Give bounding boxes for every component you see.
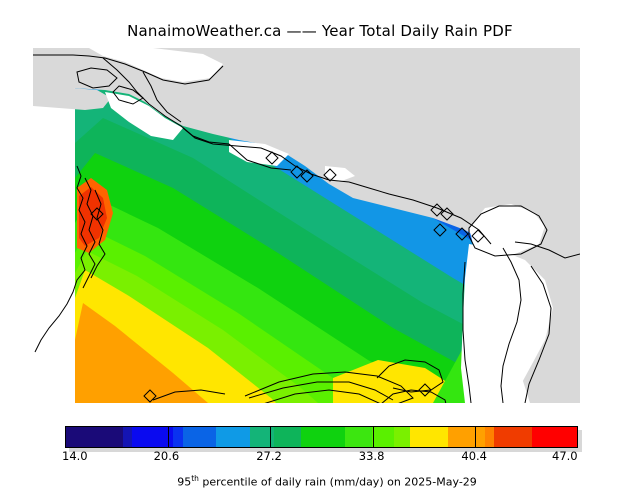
caption-suffix: percentile of daily rain (mm/day) on 202… <box>199 476 477 489</box>
colorbar-segment <box>216 427 250 447</box>
colorbar-segment <box>250 427 274 447</box>
colorbar-segment <box>274 427 301 447</box>
caption-prefix: 95 <box>177 476 191 489</box>
colorbar-segment <box>66 427 123 447</box>
rainfall-contour-map[interactable] <box>33 48 580 403</box>
colorbar[interactable] <box>65 426 578 448</box>
colorbar-segment <box>532 427 577 447</box>
colorbar-segment <box>372 427 394 447</box>
colorbar-segment <box>410 427 448 447</box>
colorbar-segment <box>123 427 132 447</box>
colorbar-gradient[interactable] <box>65 426 578 448</box>
page-title: NanaimoWeather.ca —— Year Total Daily Ra… <box>0 22 640 40</box>
colorbar-segment <box>173 427 184 447</box>
map-panel[interactable] <box>33 48 580 403</box>
colorbar-segment <box>345 427 372 447</box>
colorbar-segment <box>132 427 173 447</box>
colorbar-segment <box>183 427 216 447</box>
colorbar-segment <box>394 427 410 447</box>
caption-superscript: th <box>191 474 199 483</box>
colorbar-segment <box>448 427 485 447</box>
colorbar-segment <box>494 427 531 447</box>
colorbar-segment <box>301 427 345 447</box>
colorbar-caption: 95th percentile of daily rain (mm/day) o… <box>0 461 640 502</box>
weather-map-figure: NanaimoWeather.ca —— Year Total Daily Ra… <box>0 0 640 480</box>
colorbar-segment <box>485 427 494 447</box>
